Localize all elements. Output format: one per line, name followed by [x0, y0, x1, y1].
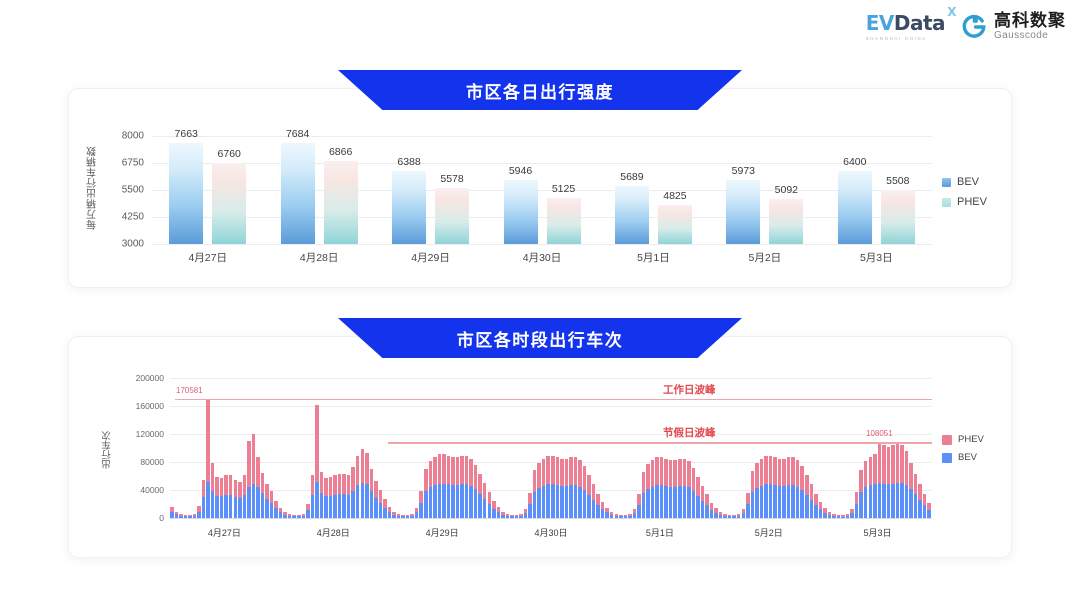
chart2-segment-bev: [270, 503, 274, 518]
chart1-bar-value: 5092: [775, 184, 798, 196]
chart2-stacked-bar[interactable]: [256, 457, 260, 518]
chart2-segment-phev: [855, 492, 859, 504]
chart2-stacked-bar[interactable]: [900, 445, 904, 519]
chart2-stacked-bar[interactable]: [497, 507, 501, 518]
chart2-segment-phev: [365, 453, 369, 485]
chart2-stacked-bar[interactable]: [869, 457, 873, 518]
chart2-segment-bev: [261, 493, 265, 518]
chart2-stacked-bar[interactable]: [202, 480, 206, 519]
chart2-stacked-bar[interactable]: [447, 456, 451, 518]
chart2-segment-bev: [374, 498, 378, 518]
chart2-segment-phev: [488, 492, 492, 504]
chart2-stacked-bar[interactable]: [669, 460, 673, 518]
chart2-stacked-bar[interactable]: [705, 494, 709, 518]
chart2-annotation-weekday: 工作日波峰: [663, 382, 716, 397]
chart2-segment-bev: [569, 485, 573, 518]
chart2-segment-phev: [433, 457, 437, 485]
chart2-stacked-bar[interactable]: [896, 443, 900, 518]
chart2-segment-phev: [238, 482, 242, 498]
chart1-legend[interactable]: BEVPHEV: [942, 176, 987, 208]
chart2-stacked-bar[interactable]: [224, 475, 228, 518]
chart2-segment-phev: [447, 456, 451, 485]
chart2-stacked-bar[interactable]: [751, 471, 755, 518]
chart2-stacked-bar[interactable]: [320, 472, 324, 518]
chart2-stacked-bar[interactable]: [574, 457, 578, 518]
chart2-stacked-bar[interactable]: [909, 463, 913, 518]
chart2-stacked-bar[interactable]: [419, 491, 423, 518]
chart2-stacked-bar[interactable]: [438, 454, 442, 518]
chart2-stacked-bar[interactable]: [415, 508, 419, 518]
chart2-y-tick: 40000: [112, 485, 164, 495]
chart1-legend-item-phev[interactable]: PHEV: [942, 196, 987, 208]
chart2-segment-phev: [370, 469, 374, 491]
chart2-stacked-bar[interactable]: [556, 457, 560, 518]
chart2-segment-bev: [927, 510, 931, 518]
chart2-segment-phev: [347, 475, 351, 495]
chart2-segment-bev: [923, 505, 927, 518]
chart2-stacked-bar[interactable]: [220, 478, 224, 518]
chart2-stacked-bar[interactable]: [800, 466, 804, 518]
chart2-stacked-bar[interactable]: [878, 442, 882, 518]
chart2-segment-bev: [778, 486, 782, 518]
chart2-legend-label: BEV: [958, 452, 977, 463]
chart2-stacked-bar[interactable]: [252, 434, 256, 518]
chart2-stacked-bar[interactable]: [692, 468, 696, 518]
chart2-stacked-bar[interactable]: [474, 465, 478, 518]
chart2-stacked-bar[interactable]: [923, 494, 927, 518]
chart2-stacked-bar[interactable]: [342, 474, 346, 518]
chart2-segment-phev: [782, 459, 786, 486]
chart1-bar-value: 6400: [843, 156, 866, 168]
chart2-segment-bev: [882, 484, 886, 518]
chart2-segment-bev: [601, 509, 605, 518]
chart2-stacked-bar[interactable]: [791, 457, 795, 518]
chart2-segment-phev: [751, 471, 755, 492]
chart2-stacked-bar[interactable]: [469, 459, 473, 518]
chart2-segment-phev: [243, 475, 247, 495]
chart2-stacked-bar[interactable]: [542, 459, 546, 518]
chart2-segment-phev: [796, 460, 800, 487]
chart1-bar-value: 5125: [552, 183, 575, 195]
chart2-segment-phev: [565, 459, 569, 486]
chart2-stacked-bar[interactable]: [211, 463, 215, 518]
chart2-stacked-bar[interactable]: [673, 460, 677, 518]
chart2-stacked-bar[interactable]: [760, 459, 764, 518]
chart2-segment-phev: [211, 463, 215, 491]
chart2-segment-bev: [873, 484, 877, 518]
chart2-segment-phev: [878, 442, 882, 483]
chart2-segment-bev: [769, 484, 773, 518]
chart2-segment-phev: [533, 470, 537, 492]
chart1-y-tick: 5500: [104, 185, 144, 196]
chart2-stacked-bar[interactable]: [914, 474, 918, 518]
chart2-stacked-bar[interactable]: [601, 502, 605, 518]
chart2-stacked-bar[interactable]: [361, 449, 365, 518]
chart2-stacked-bar[interactable]: [796, 460, 800, 518]
chart2-segment-bev: [347, 495, 351, 518]
chart2-segment-phev: [569, 457, 573, 485]
chart2-segment-bev: [324, 496, 328, 518]
chart2-stacked-bar[interactable]: [551, 456, 555, 518]
chart2-stacked-bar[interactable]: [633, 509, 637, 518]
chart1-bar-phev[interactable]: 6760: [212, 163, 246, 244]
chart2-stacked-bar[interactable]: [356, 456, 360, 518]
chart2-segment-phev: [451, 457, 455, 485]
chart2-stacked-bar[interactable]: [882, 445, 886, 518]
chart2-stacked-bar[interactable]: [873, 454, 877, 518]
chart1-legend-item-bev[interactable]: BEV: [942, 176, 987, 188]
chart2-segment-bev: [869, 485, 873, 518]
chart2-stacked-bar[interactable]: [206, 399, 210, 518]
chart2-segment-phev: [528, 493, 532, 504]
chart2-segment-bev: [351, 491, 355, 518]
chart2-segment-bev: [243, 495, 247, 518]
chart1-bar-bev[interactable]: 6388: [392, 171, 426, 244]
chart2-segment-phev: [673, 460, 677, 487]
chart2-stacked-bar[interactable]: [347, 475, 351, 518]
chart2-stacked-bar[interactable]: [424, 469, 428, 518]
chart2-stacked-bar[interactable]: [587, 475, 591, 518]
chart2-segment-bev: [229, 495, 233, 518]
chart2-segment-phev: [587, 475, 591, 495]
chart2-segment-bev: [669, 487, 673, 519]
chart2-stacked-bar[interactable]: [891, 445, 895, 518]
chart1-bar-group: 59465125: [504, 136, 581, 244]
chart2-stacked-bar[interactable]: [229, 475, 233, 518]
chart2-segment-bev: [673, 487, 677, 519]
chart2-segment-bev: [361, 483, 365, 518]
chart2-stacked-bar[interactable]: [533, 470, 537, 518]
chart2-stacked-bar[interactable]: [905, 451, 909, 518]
chart2-segment-bev: [202, 497, 206, 518]
chart1-bar-value: 5689: [620, 171, 643, 183]
chart2-stacked-bar[interactable]: [274, 501, 278, 518]
chart2-stacked-bar[interactable]: [456, 457, 460, 518]
chart1-x-label: 4月28日: [274, 250, 364, 265]
chart2-x-label: 5月1日: [620, 526, 700, 539]
chart2-stacked-bar[interactable]: [483, 483, 487, 518]
legend-swatch-icon: [942, 453, 952, 463]
chart2-stacked-bar[interactable]: [660, 457, 664, 518]
chart2-stacked-bar[interactable]: [664, 459, 668, 518]
chart2-segment-bev: [265, 499, 269, 518]
chart2-segment-bev: [442, 484, 446, 518]
chart2-segment-phev: [773, 457, 777, 485]
chart2-segment-phev: [660, 457, 664, 485]
chart2-stacked-bar[interactable]: [578, 460, 582, 518]
chart1-bar-value: 5578: [440, 173, 463, 185]
chart2-segment-bev: [859, 492, 863, 518]
chart2-segment-phev: [320, 472, 324, 493]
chart2-stacked-bar[interactable]: [238, 482, 242, 518]
chart2-segment-phev: [383, 499, 387, 507]
chart2-stacked-bar[interactable]: [370, 469, 374, 518]
chart1-bar-phev[interactable]: 4825: [658, 205, 692, 244]
chart2-stacked-bar[interactable]: [850, 509, 854, 518]
chart2-stacked-bar[interactable]: [678, 459, 682, 518]
chart2-segment-phev: [229, 475, 233, 495]
chart2-stacked-bar[interactable]: [927, 503, 931, 518]
chart2-segment-bev: [546, 484, 550, 518]
chart2-segment-bev: [424, 491, 428, 518]
chart2-stacked-bar[interactable]: [855, 492, 859, 518]
chart2-stacked-bar[interactable]: [488, 492, 492, 518]
chart1-legend-label: BEV: [957, 176, 979, 188]
chart2-segment-bev: [814, 505, 818, 518]
chart2-segment-bev: [646, 489, 650, 518]
chart2-segment-bev: [333, 495, 337, 518]
chart2-stacked-bar[interactable]: [592, 484, 596, 518]
chart2-stacked-bar[interactable]: [701, 486, 705, 518]
chart2-legend-item-bev[interactable]: BEV: [942, 452, 984, 463]
chart2-segment-bev: [315, 482, 319, 518]
chart1-bar-phev[interactable]: 5508: [881, 190, 915, 244]
chart2-legend-item-phev[interactable]: PHEV: [942, 434, 984, 445]
chart2-stacked-bar[interactable]: [596, 494, 600, 518]
chart2-stacked-bar[interactable]: [642, 472, 646, 518]
chart2-segment-phev: [342, 474, 346, 494]
chart2-stacked-bar[interactable]: [569, 457, 573, 518]
chart2-stacked-bar[interactable]: [646, 464, 650, 518]
chart2-legend[interactable]: PHEVBEV: [942, 434, 984, 463]
chart2-stacked-bar[interactable]: [528, 493, 532, 518]
chart2-segment-phev: [692, 468, 696, 491]
chart2-stacked-bar[interactable]: [687, 461, 691, 518]
chart2-segment-phev: [560, 459, 564, 486]
chart2-stacked-bar[interactable]: [451, 457, 455, 518]
chart2-stacked-bar[interactable]: [383, 499, 387, 518]
chart2-stacked-bar[interactable]: [742, 509, 746, 518]
chart2-stacked-bar[interactable]: [524, 509, 528, 518]
chart2-stacked-bar[interactable]: [265, 484, 269, 518]
chart2-segment-bev: [533, 492, 537, 518]
chart1-bar-bev[interactable]: 5689: [615, 186, 649, 244]
chart2-segment-bev: [687, 487, 691, 518]
chart2-stacked-bar[interactable]: [560, 459, 564, 518]
chart2-segment-phev: [869, 457, 873, 485]
chart2-stacked-bar[interactable]: [270, 491, 274, 518]
chart2-refline-weekday: [175, 399, 932, 400]
chart2-segment-bev: [338, 494, 342, 518]
chart2-stacked-bar[interactable]: [379, 490, 383, 518]
chart2-segment-phev: [701, 486, 705, 501]
chart2-segment-phev: [683, 459, 687, 486]
chart2-stacked-bar[interactable]: [351, 467, 355, 518]
chart2-segment-bev: [447, 484, 451, 518]
chart1-bar-group: 76846866: [281, 136, 358, 244]
chart1-bar-bev[interactable]: 7663: [169, 143, 203, 244]
chart2-segment-bev: [342, 494, 346, 518]
chart2-stacked-bar[interactable]: [755, 463, 759, 518]
chart1-bar-group: 63885578: [392, 136, 469, 244]
chart2-segment-phev: [338, 474, 342, 494]
chart2-stacked-bar[interactable]: [696, 477, 700, 518]
chart2-stacked-bar[interactable]: [819, 502, 823, 518]
chart2-segment-bev: [701, 501, 705, 519]
chart2-x-label: 4月28日: [293, 526, 373, 539]
chart1-bar-group: 64005508: [838, 136, 915, 244]
chart1-bar-bev[interactable]: 6400: [838, 171, 872, 244]
chart2-segment-phev: [256, 457, 260, 486]
chart2-segment-phev: [374, 481, 378, 498]
chart2-stacked-bar[interactable]: [478, 474, 482, 518]
chart1-x-label: 5月1日: [608, 250, 698, 265]
chart2-segment-bev: [887, 484, 891, 518]
chart2-stacked-bar[interactable]: [329, 477, 333, 518]
chart2-stacked-bar[interactable]: [234, 480, 238, 519]
chart2-segment-bev: [215, 496, 219, 518]
chart1-bar-bev[interactable]: 5946: [504, 180, 538, 244]
chart2-stacked-bar[interactable]: [746, 493, 750, 518]
chart2-stacked-bar[interactable]: [887, 447, 891, 518]
chart2-stacked-bar[interactable]: [388, 507, 392, 518]
chart2-segment-phev: [778, 459, 782, 486]
chart2-stacked-bar[interactable]: [324, 478, 328, 518]
chart2-stacked-bar[interactable]: [279, 508, 283, 518]
chart2-segment-phev: [755, 463, 759, 488]
chart2-stacked-bar[interactable]: [714, 508, 718, 518]
chart2-segment-bev: [433, 485, 437, 518]
chart2-segment-bev: [651, 487, 655, 519]
chart2-segment-bev: [705, 505, 709, 518]
chart2-stacked-bar[interactable]: [442, 454, 446, 518]
chart2-segment-bev: [574, 485, 578, 518]
chart2-stacked-bar[interactable]: [565, 459, 569, 518]
chart2-segment-phev: [478, 474, 482, 494]
chart2-stacked-bar[interactable]: [315, 405, 319, 518]
chart2-segment-bev: [587, 495, 591, 518]
chart1-x-label: 5月2日: [720, 250, 810, 265]
chart1-bar-group: 76636760: [169, 136, 246, 244]
chart2-stacked-bar[interactable]: [918, 484, 922, 518]
chart2-stacked-bar[interactable]: [365, 453, 369, 518]
chart2-segment-phev: [592, 484, 596, 499]
chart2-segment-bev: [760, 486, 764, 518]
chart2-segment-bev: [796, 487, 800, 519]
chart2-stacked-bar[interactable]: [605, 508, 609, 518]
chart2-stacked-bar[interactable]: [778, 459, 782, 518]
chart2-stacked-bar[interactable]: [814, 494, 818, 518]
chart2-stacked-bar[interactable]: [710, 503, 714, 518]
chart2-segment-phev: [800, 466, 804, 490]
chart1-bar-phev[interactable]: 5125: [547, 198, 581, 244]
chart2-stacked-bar[interactable]: [683, 459, 687, 518]
chart2-stacked-bar[interactable]: [773, 457, 777, 518]
chart2-segment-phev: [574, 457, 578, 485]
chart2-segment-bev: [800, 490, 804, 518]
chart2-segment-phev: [460, 456, 464, 485]
chart1-bar-value: 6388: [397, 156, 420, 168]
chart1-bar-value: 6760: [218, 148, 241, 160]
chart2-stacked-bar[interactable]: [823, 508, 827, 518]
chart2-stacked-bar[interactable]: [460, 456, 464, 518]
chart2-stacked-bar[interactable]: [764, 456, 768, 518]
chart2-stacked-bar[interactable]: [429, 461, 433, 518]
chart2-segment-phev: [474, 465, 478, 490]
chart2-segment-bev: [370, 491, 374, 518]
chart2-stacked-bar[interactable]: [492, 501, 496, 518]
chart1-bar-phev[interactable]: 6866: [324, 161, 358, 245]
chart2-stacked-bar[interactable]: [170, 507, 174, 518]
chart1-y-tick: 3000: [104, 239, 144, 250]
chart2-segment-bev: [914, 494, 918, 518]
chart2-stacked-bar[interactable]: [859, 470, 863, 518]
chart2-segment-phev: [469, 459, 473, 486]
chart2-x-label: 5月3日: [838, 526, 918, 539]
chart2-segment-bev: [891, 484, 895, 518]
chart2-segment-bev: [805, 495, 809, 518]
chart2-stacked-bar[interactable]: [261, 473, 265, 518]
chart2-stacked-bar[interactable]: [333, 475, 337, 518]
chart2-stacked-bar[interactable]: [374, 481, 378, 518]
chart2-stacked-bar[interactable]: [810, 484, 814, 518]
chart2-stacked-bar[interactable]: [465, 456, 469, 518]
chart1-bar-group: 56894825: [615, 136, 692, 244]
chart2-stacked-bar[interactable]: [306, 504, 310, 518]
chart2-stacked-bar[interactable]: [243, 475, 247, 518]
chart2-stacked-bar[interactable]: [311, 475, 315, 518]
chart2-legend-label: PHEV: [958, 434, 984, 445]
chart2-segment-phev: [356, 456, 360, 485]
chart1-bar-bev[interactable]: 7684: [281, 143, 315, 244]
chart2-segment-bev: [787, 485, 791, 518]
chart2-stacked-bar[interactable]: [805, 475, 809, 518]
chart2-stacked-bar[interactable]: [215, 477, 219, 518]
chart1-bar-value: 5973: [732, 165, 755, 177]
chart2-segment-phev: [583, 466, 587, 490]
chart2-segment-phev: [465, 456, 469, 485]
chart2-segment-bev: [224, 495, 228, 518]
chart2-stacked-bar[interactable]: [338, 474, 342, 518]
chart2-stacked-bar[interactable]: [864, 461, 868, 518]
chart2-axis-line: [170, 518, 932, 519]
chart2-segment-phev: [261, 473, 265, 493]
chart2-segment-phev: [556, 457, 560, 485]
chart2-stacked-bar[interactable]: [583, 466, 587, 518]
chart1-bar-phev[interactable]: 5578: [435, 188, 469, 244]
chart1-y-tick: 6750: [104, 158, 144, 169]
chart1-bar-bev[interactable]: 5973: [726, 180, 760, 244]
chart1-y-axis-label: 每万辆出行车辆数: [84, 132, 102, 244]
chart2-stacked-bar[interactable]: [655, 457, 659, 518]
chart2-stacked-bar[interactable]: [247, 441, 251, 518]
chart2-segment-phev: [918, 484, 922, 499]
chart2-segment-phev: [651, 460, 655, 487]
chart2-segment-phev: [483, 483, 487, 499]
chart2-segment-phev: [655, 457, 659, 485]
chart2-segment-phev: [456, 457, 460, 485]
chart2-segment-phev: [351, 467, 355, 491]
chart2-segment-phev: [769, 456, 773, 485]
chart2-stacked-bar[interactable]: [537, 463, 541, 518]
chart1-bar-group: 59735092: [726, 136, 803, 244]
chart2-segment-bev: [451, 485, 455, 518]
chart2-segment-bev: [696, 496, 700, 518]
chart2-stacked-bar[interactable]: [651, 460, 655, 518]
chart2-stacked-bar[interactable]: [769, 456, 773, 518]
chart2-stacked-bar[interactable]: [197, 506, 201, 518]
chart2-stacked-bar[interactable]: [637, 494, 641, 518]
chart2-stacked-bar[interactable]: [782, 459, 786, 518]
chart2-segment-bev: [365, 484, 369, 518]
chart2-segment-phev: [438, 454, 442, 483]
chart1-bar-phev[interactable]: 5092: [769, 199, 803, 244]
legend-swatch-icon: [942, 435, 952, 445]
chart2-stacked-bar[interactable]: [433, 457, 437, 518]
chart2-stacked-bar[interactable]: [546, 456, 550, 518]
chart2-y-tick: 200000: [112, 373, 164, 383]
chart2-stacked-bar[interactable]: [787, 457, 791, 518]
